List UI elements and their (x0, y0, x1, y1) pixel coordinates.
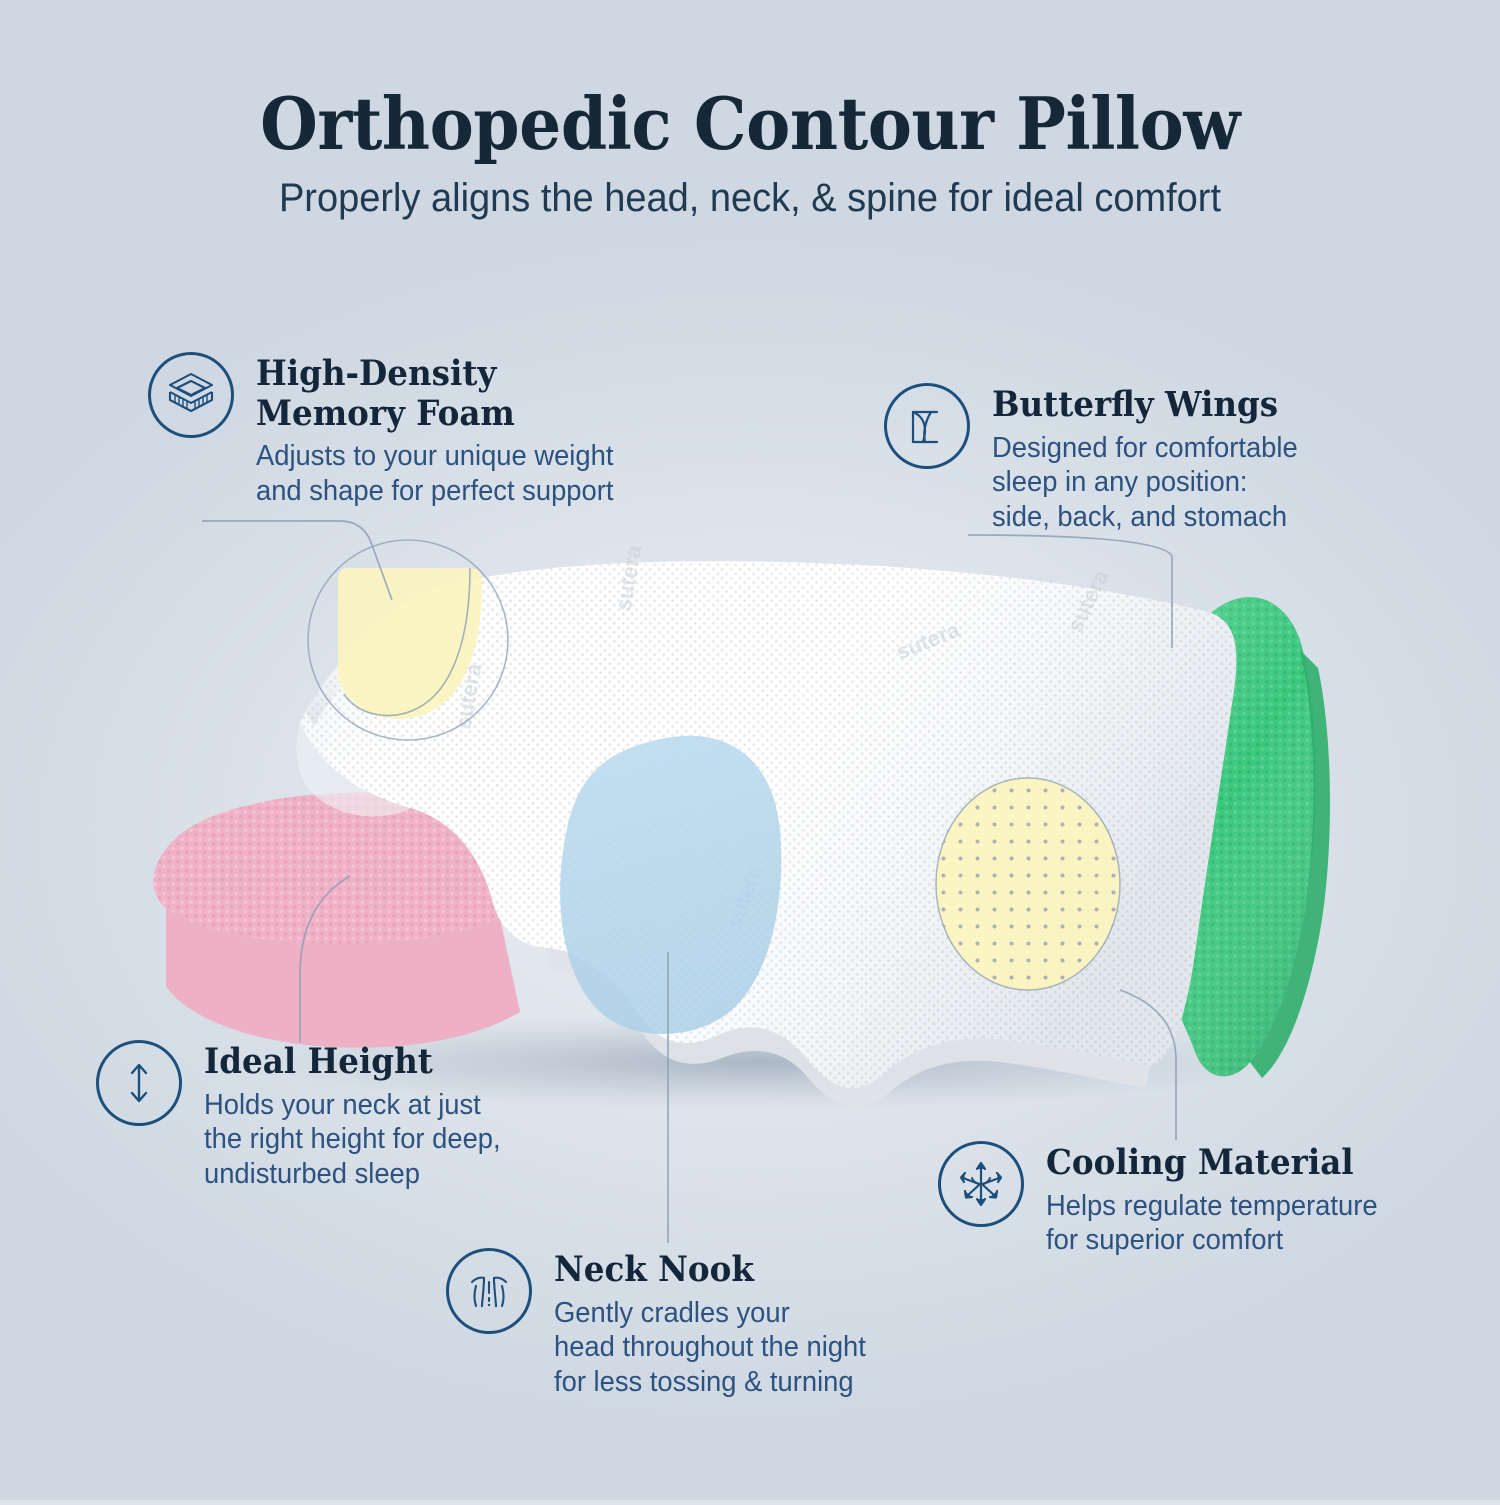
feature-body: Designed for comfortable sleep in any po… (992, 431, 1298, 535)
neck-nook-oval-highlight (560, 736, 781, 1034)
feature-title: Butterfly Wings (992, 385, 1288, 425)
feature-title: Neck Nook (554, 1250, 856, 1290)
feature-neck-nook: Neck Nook Gently cradles your head throu… (446, 1248, 879, 1400)
feature-body: Helps regulate temperature for superior … (1046, 1189, 1378, 1259)
feature-body: Adjusts to your unique weight and shape … (256, 439, 613, 509)
feature-cooling-material: Cooling Material Helps regulate temperat… (938, 1141, 1391, 1258)
page-title: Orthopedic Contour Pillow (60, 86, 1440, 162)
feature-title: High-Density Memory Foam (256, 354, 602, 433)
cooling-perforated-circle-highlight (936, 778, 1120, 990)
feature-butterfly-wings: Butterfly Wings Designed for comfortable… (884, 383, 1310, 535)
header: Orthopedic Contour Pillow Properly align… (0, 86, 1500, 220)
feature-body: Holds your neck at just the right height… (204, 1088, 501, 1192)
feature-high-density-memory-foam: High-Density Memory Foam Adjusts to your… (148, 352, 628, 509)
feature-body: Gently cradles your head throughout the … (554, 1296, 866, 1400)
radiating-airflow-arrows-icon (938, 1141, 1024, 1227)
butterfly-wing-pillow-icon (884, 383, 970, 469)
stacked-foam-layers-icon (148, 352, 234, 438)
feature-title: Cooling Material (1046, 1143, 1367, 1183)
feature-ideal-height: Ideal Height Holds your neck at just the… (96, 1040, 513, 1192)
vertical-double-arrow-icon (96, 1040, 182, 1126)
page-subtitle: Properly aligns the head, neck, & spine … (38, 176, 1463, 220)
neck-spine-anatomy-icon (446, 1248, 532, 1334)
feature-title: Ideal Height (204, 1042, 491, 1082)
infographic-canvas: sutera sutera sutera sutera sutera suter… (0, 0, 1500, 1500)
